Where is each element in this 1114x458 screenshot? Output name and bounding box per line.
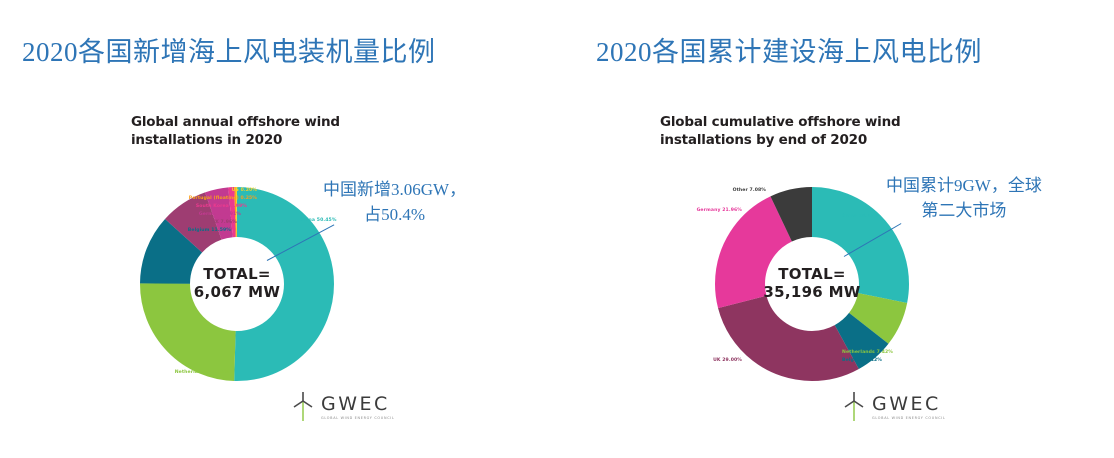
slice-label-other: Other 7.08%: [650, 188, 766, 193]
annotation-line-2: 占50.4%: [323, 203, 466, 228]
chart-heading-line-2: installations in 2020: [131, 132, 431, 150]
slice-label-china: China 28.12%: [842, 214, 879, 219]
gwec-logo-left: GWEC GLOBAL WIND ENERGY COUNCIL: [291, 392, 395, 422]
slice-label-germany: Germany 21.96%: [630, 208, 742, 213]
annotation-line-1: 中国累计9GW，全球: [886, 174, 1042, 199]
slice-label-uk: UK 7.96%: [105, 220, 237, 225]
page-title-right: 2020各国累计建设海上风电比例: [596, 30, 982, 69]
gwec-logo-right: GWEC GLOBAL WIND ENERGY COUNCIL: [842, 392, 946, 422]
slice-label-portugal: Portugal (floating) 0.25%: [105, 196, 257, 201]
slice-label-germany: Germany 3.91%: [105, 212, 241, 217]
slice-label-netherlands: Netherlands 24.62%: [95, 370, 229, 375]
slice-label-us: US 0.20%: [135, 188, 257, 193]
annotation-line-2: 第二大市场: [886, 199, 1042, 224]
wind-turbine-icon: [842, 392, 866, 422]
chart-panel-annual-installations: Global annual offshore wind installation…: [95, 100, 535, 440]
annotation-china-annual: 中国新增3.06GW， 占50.4%: [323, 178, 466, 227]
annotation-line-1: 中国新增3.06GW，: [323, 178, 466, 203]
page-title-left: 2020各国新增海上风电装机量比例: [22, 30, 436, 69]
slice-label-south-korea: South Korea 0.99%: [105, 204, 247, 209]
gwec-wordmark: GWEC: [872, 395, 946, 414]
slice-label-netherlands: Netherlands 7.42%: [842, 350, 893, 355]
gwec-wordmark: GWEC: [321, 395, 395, 414]
chart-panel-cumulative-installations: Global cumulative offshore wind installa…: [630, 100, 1070, 440]
wind-turbine-icon: [291, 392, 315, 422]
gwec-tagline: GLOBAL WIND ENERGY COUNCIL: [872, 416, 946, 420]
annotation-china-cumulative: 中国累计9GW，全球 第二大市场: [886, 174, 1042, 223]
slice-label-uk: UK 29.00%: [630, 358, 742, 363]
chart-heading-line-1: Global cumulative offshore wind: [660, 114, 980, 132]
slice-label-belgium: Belgium 11.59%: [95, 228, 231, 233]
slice-label-belgium: Belgium 6.42%: [842, 358, 882, 363]
chart-heading-cumulative: Global cumulative offshore wind installa…: [660, 114, 980, 150]
chart-heading-annual: Global annual offshore wind installation…: [131, 114, 431, 150]
chart-heading-line-1: Global annual offshore wind: [131, 114, 431, 132]
gwec-tagline: GLOBAL WIND ENERGY COUNCIL: [321, 416, 395, 420]
chart-heading-line-2: installations by end of 2020: [660, 132, 980, 150]
